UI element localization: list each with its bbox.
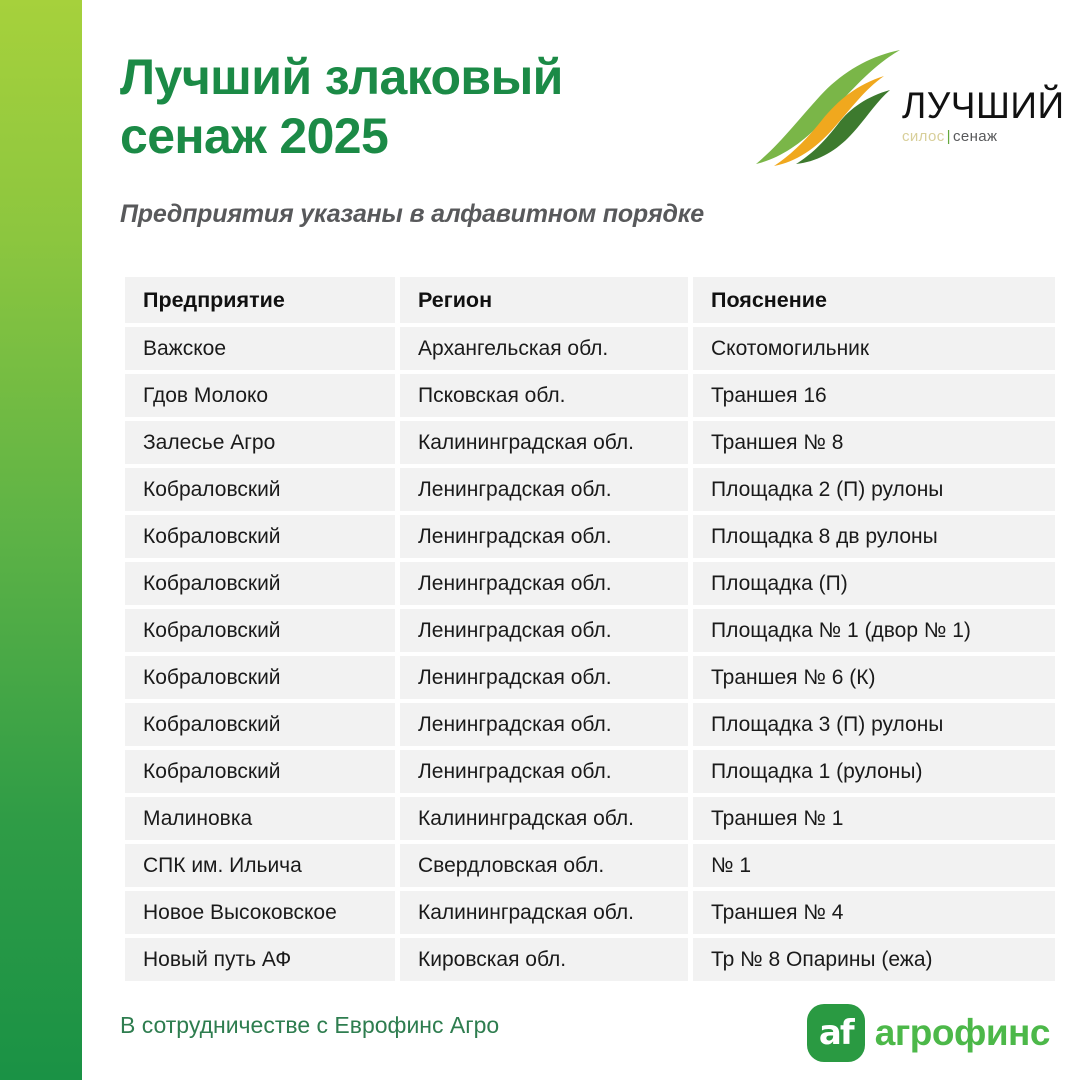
agrofins-mark-icon: af [807,1004,865,1062]
cell-explanation: № 1 [693,844,1055,887]
agrofins-wordmark: агрофинс [875,1013,1050,1053]
cell-explanation: Скотомогильник [693,327,1055,370]
page-title: Лучший злаковый сенаж 2025 [120,48,760,166]
page-subtitle: Предприятия указаны в алфавитном порядке [120,198,704,230]
table-row: МалиновкаКалининградская обл.Траншея № 1 [125,797,1055,840]
cell-explanation: Траншея № 6 (К) [693,656,1055,699]
luchshiy-logo: ЛУЧШИЙ силос|сенаж [750,46,1050,176]
cell-region: Калининградская обл. [400,797,688,840]
table-row: Новый путь АФКировская обл.Тр № 8 Опарин… [125,938,1055,981]
cell-enterprise: Малиновка [125,797,395,840]
content-area: Лучший злаковый сенаж 2025 ЛУЧШИЙ силос|… [82,0,1080,1080]
cell-explanation: Площадка № 1 (двор № 1) [693,609,1055,652]
cell-region: Архангельская обл. [400,327,688,370]
listing-table: Предприятие Регион Пояснение ВажскоеАрха… [120,273,1060,985]
cell-region: Ленинградская обл. [400,609,688,652]
cell-region: Псковская обл. [400,374,688,417]
cell-explanation: Тр № 8 Опарины (ежа) [693,938,1055,981]
left-gradient-bar [0,0,82,1080]
table-row: ВажскоеАрхангельская обл.Скотомогильник [125,327,1055,370]
table-row: Новое ВысоковскоеКалининградская обл.Тра… [125,891,1055,934]
cell-enterprise: Кобраловский [125,468,395,511]
cell-explanation: Площадка (П) [693,562,1055,605]
cell-enterprise: Новый путь АФ [125,938,395,981]
cell-explanation: Траншея № 4 [693,891,1055,934]
column-header-region: Регион [400,277,688,323]
cell-enterprise: Гдов Молоко [125,374,395,417]
cell-region: Ленинградская обл. [400,562,688,605]
cell-enterprise: Кобраловский [125,515,395,558]
luchshiy-tagline-divider: | [945,128,953,145]
table-row: СПК им. ИльичаСвердловская обл.№ 1 [125,844,1055,887]
table-row: КобраловскийЛенинградская обл.Площадка №… [125,609,1055,652]
luchshiy-tagline-senazh: сенаж [953,128,998,145]
cell-region: Ленинградская обл. [400,750,688,793]
cell-explanation: Траншея 16 [693,374,1055,417]
cell-region: Ленинградская обл. [400,703,688,746]
luchshiy-swoosh-icon [750,46,910,171]
cell-region: Калининградская обл. [400,891,688,934]
cell-enterprise: Кобраловский [125,656,395,699]
listing-table-wrap: Предприятие Регион Пояснение ВажскоеАрха… [120,273,1050,985]
cell-region: Калининградская обл. [400,421,688,464]
cell-enterprise: Кобраловский [125,750,395,793]
cell-explanation: Траншея № 8 [693,421,1055,464]
cell-region: Кировская обл. [400,938,688,981]
table-row: КобраловскийЛенинградская обл.Траншея № … [125,656,1055,699]
cell-enterprise: Новое Высоковское [125,891,395,934]
cell-enterprise: Залесье Агро [125,421,395,464]
cell-enterprise: Кобраловский [125,562,395,605]
cell-region: Свердловская обл. [400,844,688,887]
table-row: КобраловскийЛенинградская обл.Площадка (… [125,562,1055,605]
luchshiy-tagline: силос|сенаж [902,128,1052,146]
poster-footer: В сотрудничестве с Еврофинс Агро af агро… [120,1005,1050,1061]
cell-enterprise: Важское [125,327,395,370]
cell-explanation: Площадка 1 (рулоны) [693,750,1055,793]
cell-region: Ленинградская обл. [400,515,688,558]
cell-explanation: Площадка 8 дв рулоны [693,515,1055,558]
agrofins-monogram: af [807,1004,865,1062]
agrofins-logo: af агрофинс [807,1002,1050,1064]
cell-enterprise: Кобраловский [125,703,395,746]
cell-enterprise: СПК им. Ильича [125,844,395,887]
cell-explanation: Траншея № 1 [693,797,1055,840]
table-header-row: Предприятие Регион Пояснение [125,277,1055,323]
cooperation-note: В сотрудничестве с Еврофинс Агро [120,1011,499,1039]
cell-explanation: Площадка 3 (П) рулоны [693,703,1055,746]
cell-region: Ленинградская обл. [400,468,688,511]
luchshiy-name: ЛУЧШИЙ [902,86,1052,126]
luchshiy-wordmark: ЛУЧШИЙ силос|сенаж [902,86,1052,146]
poster-page: Лучший злаковый сенаж 2025 ЛУЧШИЙ силос|… [0,0,1080,1080]
table-row: Залесье АгроКалининградская обл.Траншея … [125,421,1055,464]
table-row: КобраловскийЛенинградская обл.Площадка 3… [125,703,1055,746]
luchshiy-tagline-silos: силос [902,128,945,145]
table-row: Гдов МолокоПсковская обл.Траншея 16 [125,374,1055,417]
table-row: КобраловскийЛенинградская обл.Площадка 1… [125,750,1055,793]
cell-explanation: Площадка 2 (П) рулоны [693,468,1055,511]
cell-region: Ленинградская обл. [400,656,688,699]
column-header-explanation: Пояснение [693,277,1055,323]
cell-enterprise: Кобраловский [125,609,395,652]
table-body: ВажскоеАрхангельская обл.СкотомогильникГ… [125,327,1055,981]
column-header-enterprise: Предприятие [125,277,395,323]
poster-header: Лучший злаковый сенаж 2025 ЛУЧШИЙ силос|… [120,48,1050,183]
table-head: Предприятие Регион Пояснение [125,277,1055,323]
table-row: КобраловскийЛенинградская обл.Площадка 2… [125,468,1055,511]
table-row: КобраловскийЛенинградская обл.Площадка 8… [125,515,1055,558]
